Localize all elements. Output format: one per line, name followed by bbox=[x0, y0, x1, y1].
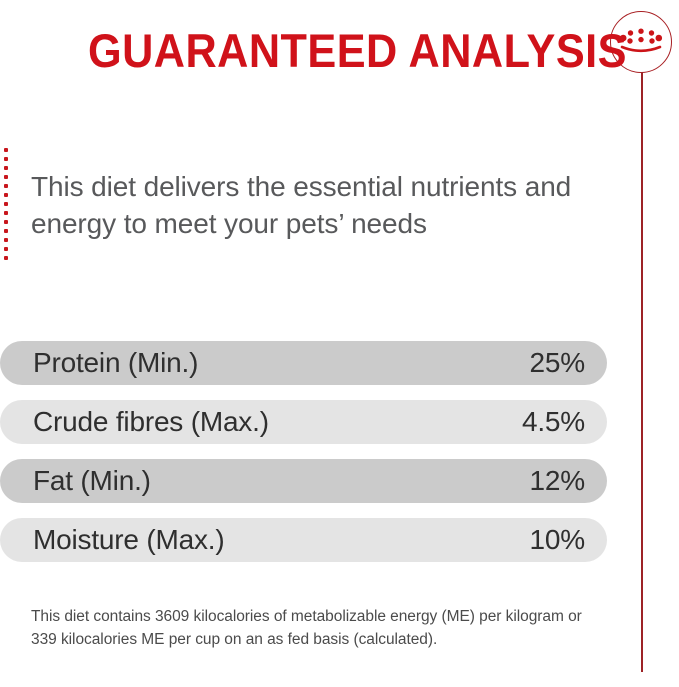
guaranteed-analysis-panel: GUARANTEED ANALYSIS This diet delivers t… bbox=[0, 0, 679, 687]
table-row: Moisture (Max.) 10% bbox=[0, 518, 607, 562]
rail-dot bbox=[4, 148, 8, 152]
nutrient-value: 10% bbox=[530, 525, 585, 555]
nutrient-label: Fat (Min.) bbox=[33, 466, 151, 496]
nutrient-label: Crude fibres (Max.) bbox=[33, 407, 269, 437]
table-row: Fat (Min.) 12% bbox=[0, 459, 607, 503]
nutrient-value: 4.5% bbox=[522, 407, 585, 437]
table-row: Protein (Min.) 25% bbox=[0, 341, 607, 385]
rail-dot bbox=[4, 247, 8, 251]
rail-dot bbox=[4, 202, 8, 206]
dotted-rule-icon bbox=[4, 148, 10, 260]
analysis-table: Protein (Min.) 25% Crude fibres (Max.) 4… bbox=[0, 341, 607, 577]
nutrient-value: 12% bbox=[530, 466, 585, 496]
nutrient-label: Protein (Min.) bbox=[33, 348, 198, 378]
rail-dot bbox=[4, 157, 8, 161]
nutrient-label: Moisture (Max.) bbox=[33, 525, 224, 555]
rail-dot bbox=[4, 238, 8, 242]
nutrient-value: 25% bbox=[530, 348, 585, 378]
rail-dot bbox=[4, 166, 8, 170]
rail-dot bbox=[4, 184, 8, 188]
rail-dot bbox=[4, 211, 8, 215]
rail-dot bbox=[4, 220, 8, 224]
page-title: GUARANTEED ANALYSIS bbox=[88, 25, 627, 77]
rail-dot bbox=[4, 256, 8, 260]
intro-paragraph: This diet delivers the essential nutrien… bbox=[31, 168, 616, 242]
rail-dot bbox=[4, 175, 8, 179]
rail-dot bbox=[4, 193, 8, 197]
table-row: Crude fibres (Max.) 4.5% bbox=[0, 400, 607, 444]
rail-dot bbox=[4, 229, 8, 233]
brand-vertical-rule bbox=[641, 72, 643, 672]
energy-footnote: This diet contains 3609 kilocalories of … bbox=[31, 605, 611, 651]
